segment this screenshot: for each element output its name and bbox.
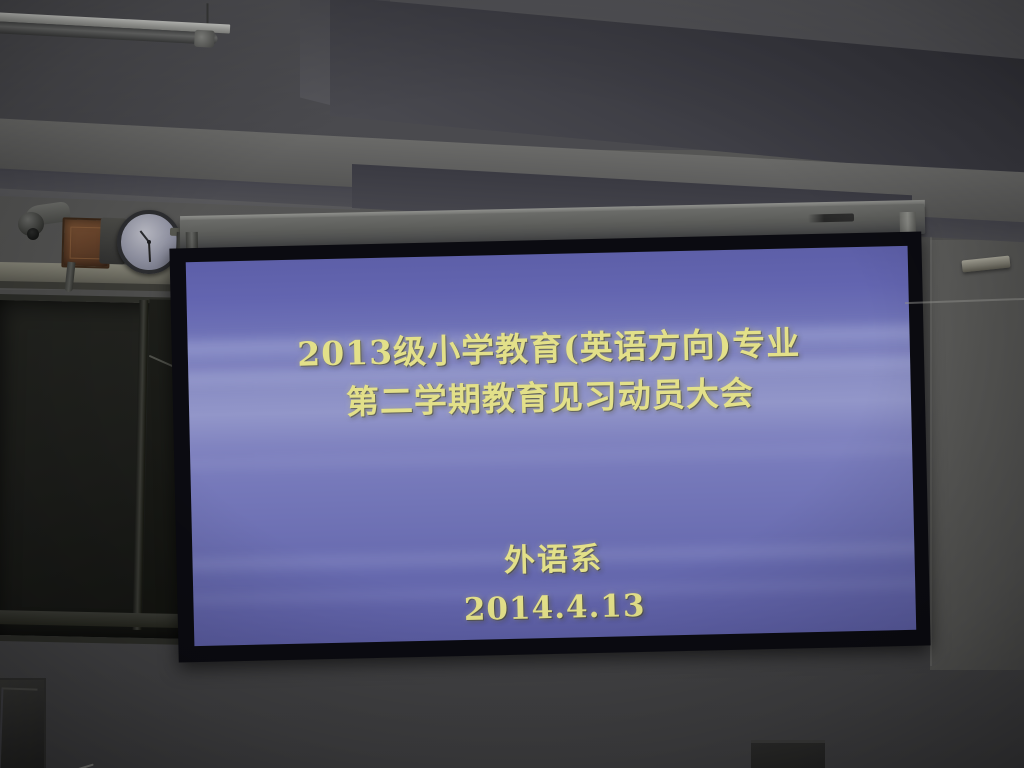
screen-brand-logo — [808, 213, 854, 222]
dark-cabinet-left — [0, 678, 46, 768]
photo-scene: 2013级小学教育(英语方向)专业 第二学期教育见习动员大会 外语系 2014.… — [0, 0, 1024, 768]
right-wall-panel — [930, 240, 1024, 670]
clock-minute-hand — [148, 242, 151, 262]
projection-screen-surface: 2013级小学教育(英语方向)专业 第二学期教育见习动员大会 外语系 2014.… — [186, 246, 917, 646]
dark-cabinet-left-panel — [0, 687, 37, 768]
wooden-box-inner-panel — [70, 227, 103, 260]
light-endcap — [194, 30, 215, 48]
slide-title-line-2: 第二学期教育见习动员大会 — [345, 370, 754, 426]
slide-text-block: 2013级小学教育(英语方向)专业 第二学期教育见习动员大会 外语系 2014.… — [186, 246, 917, 646]
projection-screen-frame: 2013级小学教育(英语方向)专业 第二学期教育见习动员大会 外语系 2014.… — [169, 232, 930, 663]
slide-title-line-1: 2013级小学教育(英语方向)专业 — [297, 320, 801, 378]
camera-dome-icon — [18, 212, 44, 236]
camera-lens-icon — [27, 228, 39, 240]
slide-subtitle-department: 外语系 — [504, 539, 604, 583]
slide-subtitle-date: 2014.4.13 — [463, 585, 645, 631]
dark-cabinet-right — [751, 740, 825, 768]
clock-center-pin — [147, 240, 151, 244]
